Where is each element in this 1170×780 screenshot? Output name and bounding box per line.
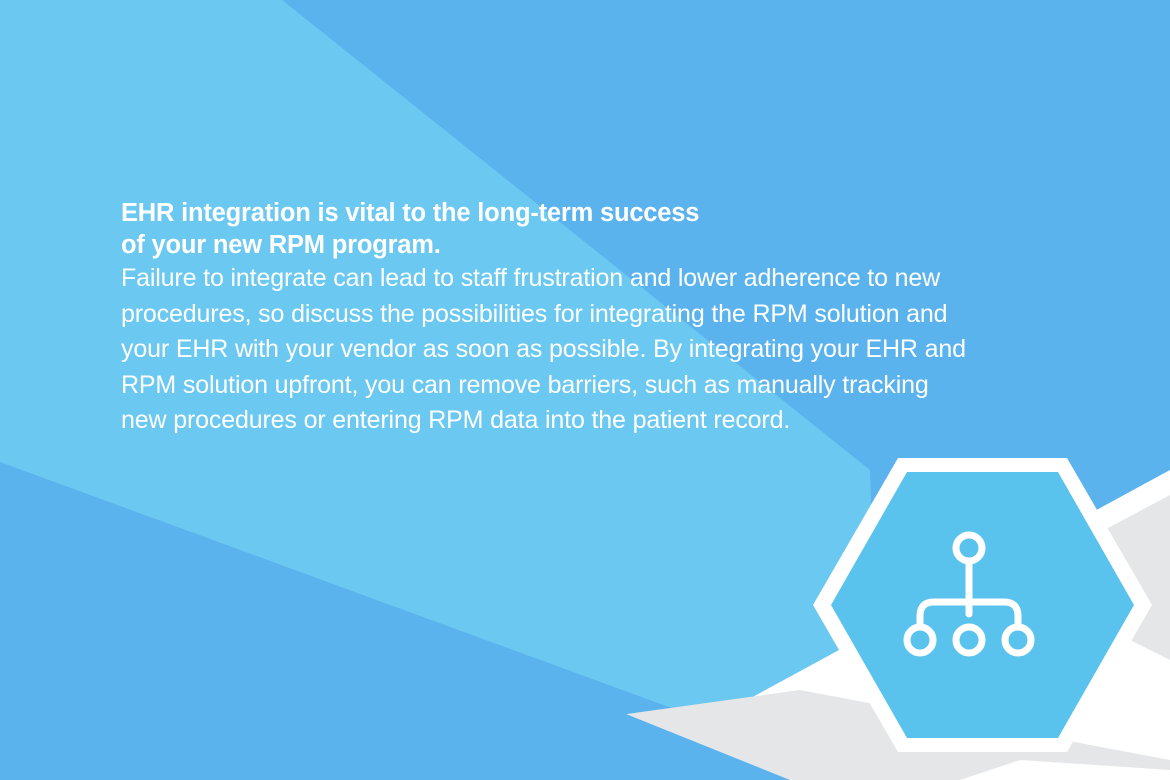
body-paragraph: Failure to integrate can lead to staff f… [121, 261, 1061, 439]
page-title: EHR integration is vital to the long-ter… [121, 197, 1061, 261]
slide-canvas: EHR integration is vital to the long-ter… [0, 0, 1170, 780]
text-block: EHR integration is vital to the long-ter… [121, 197, 1061, 439]
